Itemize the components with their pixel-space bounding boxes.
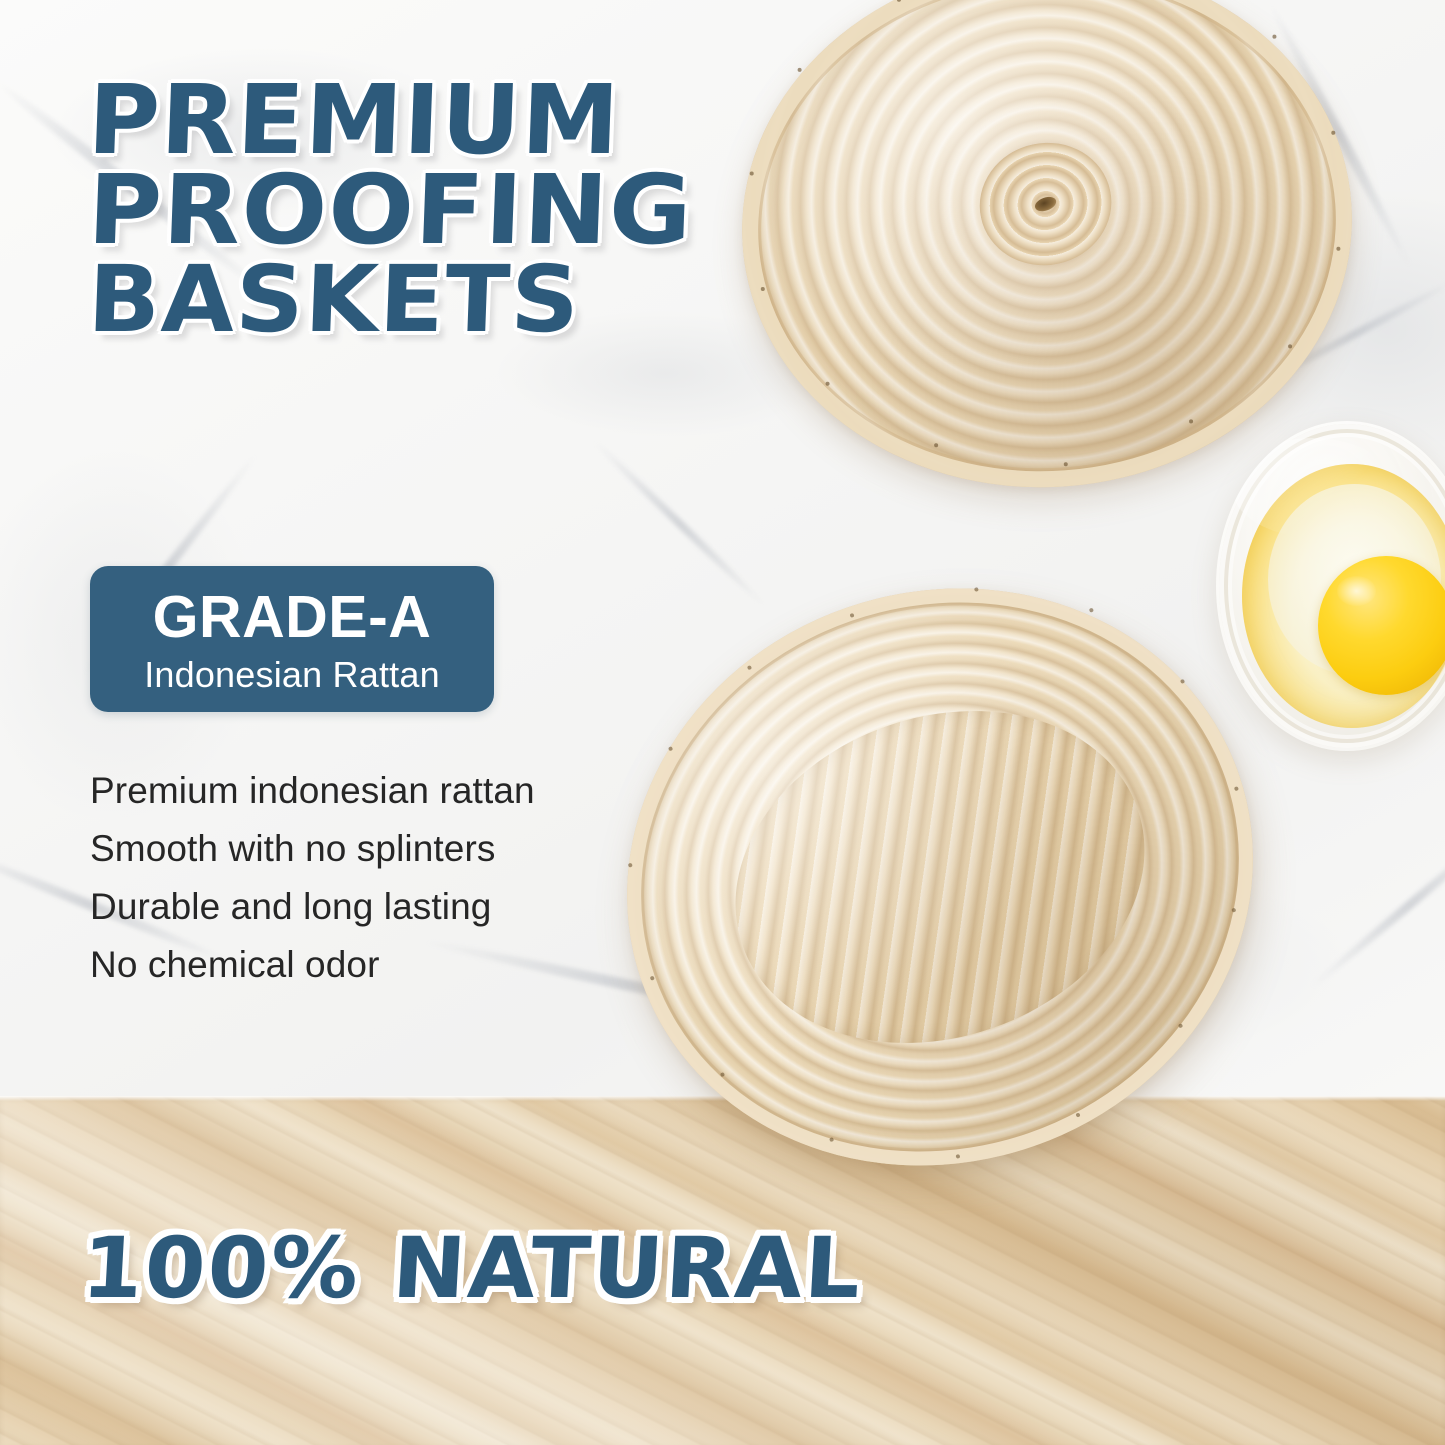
feature-item: Smooth with no splinters [90, 830, 650, 867]
headline-line-2: PROOFING [86, 162, 720, 258]
feature-item: Premium indonesian rattan [90, 772, 650, 809]
feature-list: Premium indonesian rattan Smooth with no… [90, 772, 650, 1004]
round-basket-stitch-holes [724, 0, 1369, 508]
product-infographic: PREMIUM PROOFING BASKETS GRADE-A Indones… [0, 0, 1445, 1445]
glass-bowl-highlight [1232, 438, 1394, 537]
grade-a-badge: GRADE-A Indonesian Rattan [90, 566, 494, 712]
page-title: PREMIUM PROOFING BASKETS [88, 72, 688, 346]
badge-title: GRADE-A [153, 588, 432, 647]
round-proofing-basket-image [724, 0, 1369, 508]
badge-subtitle: Indonesian Rattan [144, 657, 440, 693]
feature-item: No chemical odor [90, 946, 650, 983]
headline-line-3: BASKETS [86, 254, 707, 346]
feature-item: Durable and long lasting [90, 888, 650, 925]
natural-banner-text: 100% NATURAL [80, 1226, 865, 1310]
